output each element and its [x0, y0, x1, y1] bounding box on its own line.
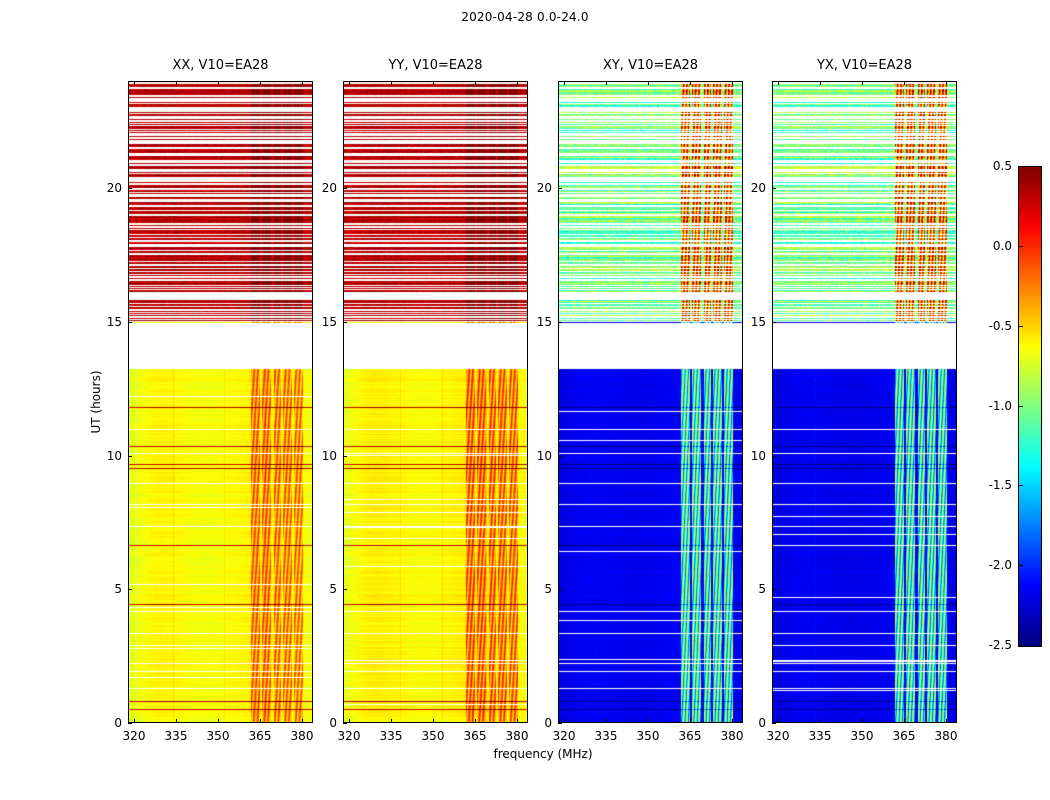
xtick-xx-3 — [260, 719, 261, 723]
xticklabel-yx-0: 320 — [767, 729, 790, 743]
xticklabel-yx-1: 335 — [809, 729, 832, 743]
panel-title-yx: YX, V10=EA28 — [772, 58, 957, 73]
xtick-yx-1 — [820, 719, 821, 723]
xtick-top-xx-2 — [218, 81, 219, 85]
yticklabel-xx-3: 15 — [107, 315, 122, 329]
ytick-xy-4 — [558, 188, 562, 189]
xticklabel-xy-0: 320 — [553, 729, 576, 743]
xtick-yx-2 — [862, 719, 863, 723]
colorbar-tick-6 — [1018, 645, 1023, 646]
xtick-yx-4 — [946, 719, 947, 723]
yticklabel-yx-4: 20 — [751, 181, 766, 195]
yticklabel-xx-4: 20 — [107, 181, 122, 195]
colorbar-ticklabel-5: -2.0 — [989, 558, 1012, 572]
colorbar-ticklabel-0: 0.5 — [993, 159, 1012, 173]
xtick-top-xy-4 — [732, 81, 733, 85]
axes-frame-xy — [558, 81, 743, 723]
ytick-yx-3 — [772, 322, 776, 323]
xtick-xy-1 — [606, 719, 607, 723]
xtick-yy-0 — [349, 719, 350, 723]
xticklabel-xy-1: 335 — [595, 729, 618, 743]
xtick-yx-0 — [778, 719, 779, 723]
xticklabel-xx-2: 350 — [207, 729, 230, 743]
xtick-yy-2 — [433, 719, 434, 723]
yticklabel-xy-1: 5 — [544, 582, 552, 596]
xtick-yy-4 — [517, 719, 518, 723]
yticklabel-yx-1: 5 — [758, 582, 766, 596]
yticklabel-xy-0: 0 — [544, 716, 552, 730]
yticklabel-xy-2: 10 — [537, 449, 552, 463]
xtick-xx-0 — [134, 719, 135, 723]
ytick-yy-1 — [343, 589, 347, 590]
xtick-top-yy-1 — [391, 81, 392, 85]
yticklabel-yx-0: 0 — [758, 716, 766, 730]
xtick-top-yx-2 — [862, 81, 863, 85]
yticklabel-xx-0: 0 — [114, 716, 122, 730]
xtick-xx-1 — [176, 719, 177, 723]
ytick-xy-3 — [558, 322, 562, 323]
xtick-xx-4 — [302, 719, 303, 723]
colorbar-ticklabel-4: -1.5 — [989, 478, 1012, 492]
xticklabel-xy-2: 350 — [637, 729, 660, 743]
figure-canvas: 2020-04-28 0.0-24.0 XX, V10=EA2832033535… — [0, 0, 1050, 800]
panel-title-xx: XX, V10=EA28 — [128, 58, 313, 73]
ytick-yx-0 — [772, 723, 776, 724]
yticklabel-yy-3: 15 — [322, 315, 337, 329]
xticklabel-xx-4: 380 — [291, 729, 314, 743]
xticklabel-xy-3: 365 — [679, 729, 702, 743]
xticklabel-xx-3: 365 — [249, 729, 272, 743]
xticklabel-xx-1: 335 — [165, 729, 188, 743]
ytick-xy-2 — [558, 456, 562, 457]
ytick-xx-1 — [128, 589, 132, 590]
yticklabel-yy-1: 5 — [329, 582, 337, 596]
xtick-yy-3 — [475, 719, 476, 723]
ytick-yx-4 — [772, 188, 776, 189]
xtick-top-xx-3 — [260, 81, 261, 85]
xtick-top-xx-4 — [302, 81, 303, 85]
xticklabel-yx-2: 350 — [851, 729, 874, 743]
xtick-top-xx-1 — [176, 81, 177, 85]
figure-suptitle: 2020-04-28 0.0-24.0 — [0, 10, 1050, 24]
yticklabel-yy-0: 0 — [329, 716, 337, 730]
yticklabel-yy-4: 20 — [322, 181, 337, 195]
xtick-top-xy-1 — [606, 81, 607, 85]
xticklabel-yy-1: 335 — [380, 729, 403, 743]
xtick-top-yx-3 — [904, 81, 905, 85]
yticklabel-yx-3: 15 — [751, 315, 766, 329]
colorbar-tick-1 — [1018, 246, 1023, 247]
xtick-xx-2 — [218, 719, 219, 723]
xticklabel-yx-4: 380 — [935, 729, 958, 743]
xticklabel-yy-3: 365 — [464, 729, 487, 743]
yticklabel-xy-4: 20 — [537, 181, 552, 195]
xtick-top-xy-3 — [690, 81, 691, 85]
colorbar-tick-3 — [1018, 406, 1023, 407]
colorbar-ticklabel-2: -0.5 — [989, 319, 1012, 333]
xtick-top-yy-0 — [349, 81, 350, 85]
xticklabel-yy-4: 380 — [506, 729, 529, 743]
xticklabel-yy-0: 320 — [338, 729, 361, 743]
panel-yy: YY, V10=EA28 — [343, 81, 528, 723]
xtick-top-yy-3 — [475, 81, 476, 85]
ytick-yx-1 — [772, 589, 776, 590]
xtick-top-yx-1 — [820, 81, 821, 85]
ytick-xx-3 — [128, 322, 132, 323]
ytick-xx-0 — [128, 723, 132, 724]
xticklabel-xx-0: 320 — [123, 729, 146, 743]
xtick-top-yx-4 — [946, 81, 947, 85]
yticklabel-yy-2: 10 — [322, 449, 337, 463]
axes-frame-yx — [772, 81, 957, 723]
colorbar-ticklabel-3: -1.0 — [989, 399, 1012, 413]
ytick-yy-3 — [343, 322, 347, 323]
ytick-xy-1 — [558, 589, 562, 590]
ytick-yy-4 — [343, 188, 347, 189]
xtick-xy-4 — [732, 719, 733, 723]
xticklabel-xy-4: 380 — [721, 729, 744, 743]
xtick-top-yy-2 — [433, 81, 434, 85]
colorbar-tick-2 — [1018, 326, 1023, 327]
axes-frame-yy — [343, 81, 528, 723]
colorbar-tick-5 — [1018, 565, 1023, 566]
xaxis-label: frequency (MHz) — [493, 747, 592, 761]
ytick-xx-4 — [128, 188, 132, 189]
xtick-top-xx-0 — [134, 81, 135, 85]
yticklabel-yx-2: 10 — [751, 449, 766, 463]
yaxis-label: UT (hours) — [89, 370, 103, 433]
panel-title-yy: YY, V10=EA28 — [343, 58, 528, 73]
xtick-xy-0 — [564, 719, 565, 723]
xtick-yy-1 — [391, 719, 392, 723]
ytick-xx-2 — [128, 456, 132, 457]
xticklabel-yy-2: 350 — [422, 729, 445, 743]
colorbar-tick-0 — [1018, 166, 1023, 167]
yticklabel-xx-1: 5 — [114, 582, 122, 596]
ytick-yx-2 — [772, 456, 776, 457]
ytick-yy-2 — [343, 456, 347, 457]
xtick-top-yx-0 — [778, 81, 779, 85]
yticklabel-xy-3: 15 — [537, 315, 552, 329]
xtick-top-xy-2 — [648, 81, 649, 85]
colorbar-ticklabel-1: 0.0 — [993, 239, 1012, 253]
xtick-yx-3 — [904, 719, 905, 723]
panel-yx: YX, V10=EA28 — [772, 81, 957, 723]
panel-xx: XX, V10=EA28 — [128, 81, 313, 723]
colorbar-tick-4 — [1018, 485, 1023, 486]
ytick-yy-0 — [343, 723, 347, 724]
panel-xy: XY, V10=EA28 — [558, 81, 743, 723]
axes-frame-xx — [128, 81, 313, 723]
panel-title-xy: XY, V10=EA28 — [558, 58, 743, 73]
xtick-top-yy-4 — [517, 81, 518, 85]
xtick-top-xy-0 — [564, 81, 565, 85]
xticklabel-yx-3: 365 — [893, 729, 916, 743]
ytick-xy-0 — [558, 723, 562, 724]
xtick-xy-2 — [648, 719, 649, 723]
colorbar-ticklabel-6: -2.5 — [989, 638, 1012, 652]
xtick-xy-3 — [690, 719, 691, 723]
yticklabel-xx-2: 10 — [107, 449, 122, 463]
